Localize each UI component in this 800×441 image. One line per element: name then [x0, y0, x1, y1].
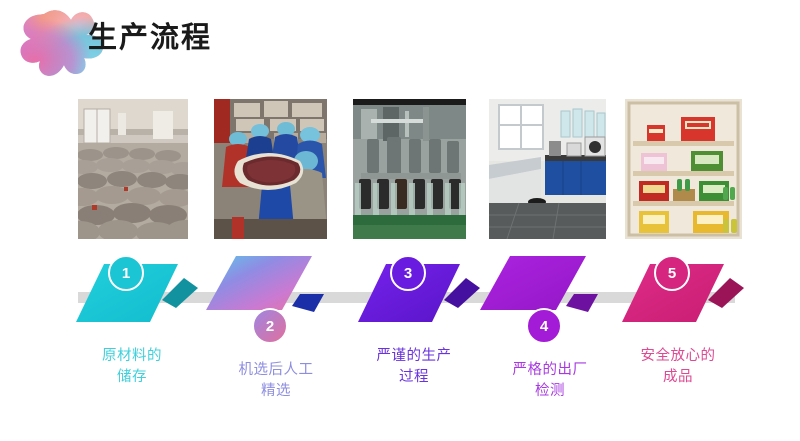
flow-step-4-number: 4 — [526, 308, 562, 344]
flow-step-5-number: 5 — [654, 255, 690, 291]
photo-filling-line — [353, 99, 466, 239]
photo-warehouse-sacks — [78, 99, 188, 239]
slide-header: 生产流程 — [0, 0, 800, 92]
flow-step-1-number: 1 — [108, 255, 144, 291]
flow-step-2-number: 2 — [252, 308, 288, 344]
flow-step-3-number: 3 — [390, 255, 426, 291]
page-title: 生产流程 — [88, 24, 212, 53]
flow-step-5[interactable]: 5 安全放心的 成品 — [598, 250, 758, 400]
flow-step-5-label: 安全放心的 成品 — [588, 346, 768, 388]
process-flow: 1 原材料的 储存 2 — [0, 250, 800, 400]
photo-product-shelf — [625, 99, 742, 239]
photo-manual-sorting — [214, 99, 327, 239]
photo-laboratory — [489, 99, 606, 239]
